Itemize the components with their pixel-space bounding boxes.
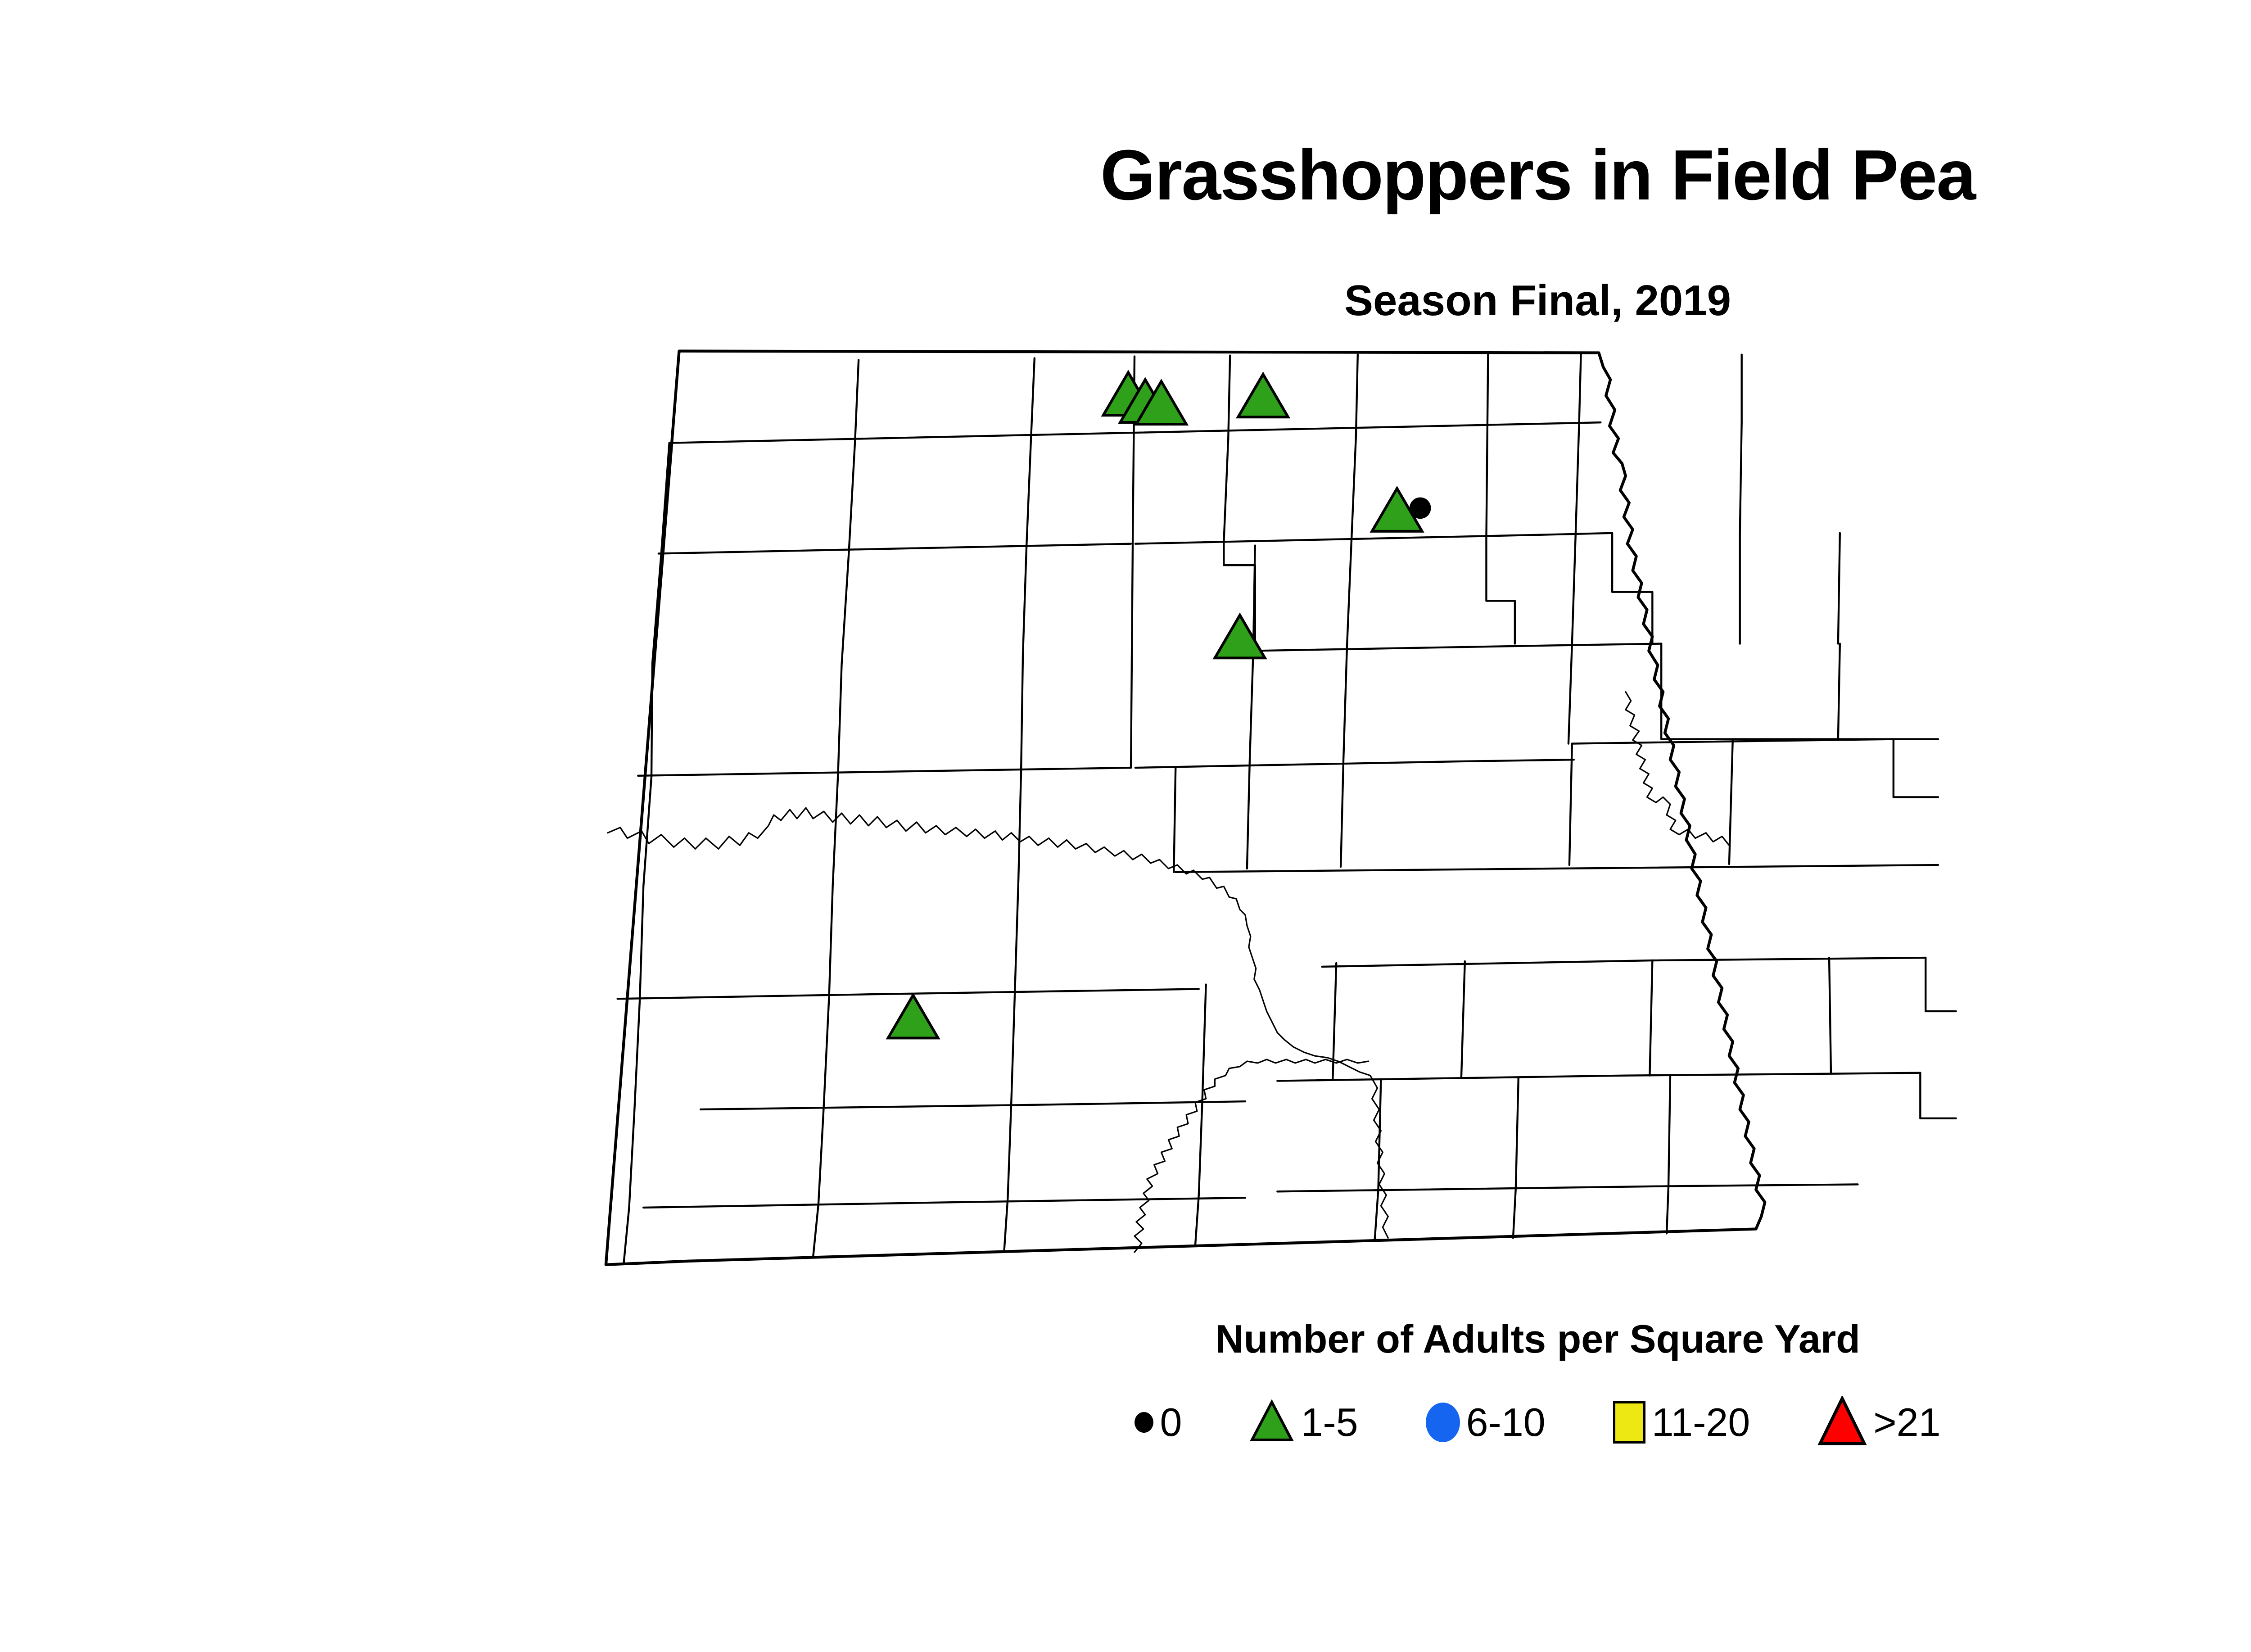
cty-vline-6a bbox=[629, 1109, 634, 1208]
cty-vline-7f bbox=[1513, 1188, 1516, 1238]
cty-vline-4b bbox=[829, 773, 838, 995]
tier-line-25 bbox=[1670, 1184, 1858, 1186]
tier-line-15 bbox=[1322, 960, 1653, 967]
cty-vline-2f bbox=[1576, 421, 1579, 535]
legend-item-11-20[interactable]: 11-20 bbox=[1613, 1401, 1750, 1444]
cty-step-e bbox=[1920, 1073, 1956, 1118]
cty-step-c bbox=[1894, 739, 1938, 797]
triangle-icon bbox=[1249, 1399, 1294, 1445]
tier-line-14 bbox=[868, 989, 1199, 994]
triangle-icon bbox=[1817, 1396, 1867, 1448]
tier-line-3 bbox=[1135, 535, 1540, 544]
tier-line-22 bbox=[643, 1202, 956, 1208]
cty-step-d bbox=[1926, 958, 1956, 1011]
cty-vline-7b bbox=[813, 1204, 818, 1258]
cty-vline-4c bbox=[1015, 770, 1021, 991]
circle-icon bbox=[1426, 1403, 1460, 1442]
cty-vline-3e bbox=[1347, 540, 1352, 646]
cty-vline-7d bbox=[1195, 1195, 1199, 1246]
legend-item-0[interactable]: 0 bbox=[1135, 1403, 1182, 1442]
cty-vline-4g bbox=[1568, 644, 1572, 744]
legend-item-6-10[interactable]: 6-10 bbox=[1426, 1403, 1546, 1442]
tier-line-10 bbox=[1135, 761, 1456, 768]
state-outline bbox=[606, 351, 1765, 1265]
cty-vline-4i bbox=[1569, 744, 1572, 865]
cty-vline-6f bbox=[1516, 1077, 1519, 1188]
cty-vline-n6 bbox=[1486, 354, 1488, 539]
cty-vline-n5 bbox=[1356, 355, 1358, 437]
cty-vline-3f bbox=[1572, 535, 1576, 644]
cty-vline-3c bbox=[1021, 548, 1026, 770]
tier-line-2 bbox=[659, 544, 1131, 554]
north-dakota-county-map bbox=[599, 333, 2206, 1301]
cty-vline-5f bbox=[1461, 961, 1465, 1077]
page-title: Grasshoppers in Field Pea bbox=[0, 140, 2251, 211]
lake-sakakawea bbox=[608, 808, 1370, 1075]
cty-vline-7a bbox=[624, 1208, 629, 1263]
cty-vline-6b bbox=[818, 1106, 824, 1204]
cty-vline-2d bbox=[1224, 439, 1228, 542]
cty-vline-5a bbox=[634, 999, 640, 1109]
map-subtitle: Season Final, 2019 bbox=[0, 279, 2251, 322]
tier-line-19 bbox=[1277, 1076, 1625, 1081]
cty-vline-5d bbox=[1202, 985, 1206, 1099]
tier-line-11 bbox=[1456, 760, 1574, 761]
tier-line-21 bbox=[1831, 1073, 1920, 1074]
legend-label-6-10: 6-10 bbox=[1466, 1403, 1546, 1442]
marker-1-5 bbox=[888, 995, 938, 1038]
cty-step-ne2 bbox=[1740, 422, 1742, 534]
legend-label-0: 0 bbox=[1160, 1403, 1182, 1442]
legend-label-gt21: >21 bbox=[1873, 1403, 1940, 1442]
legend-label-11-20: 11-20 bbox=[1652, 1403, 1750, 1442]
cty-step-ne4 bbox=[1838, 533, 1840, 644]
cty-vline-2c bbox=[1026, 440, 1031, 548]
legend-title: Number of Adults per Square Yard bbox=[0, 1319, 2251, 1359]
cty-vline-n2 bbox=[1031, 358, 1035, 440]
tier-line-13 bbox=[618, 994, 868, 999]
cty-step-b bbox=[1661, 644, 1894, 739]
cty-vline-n7 bbox=[1579, 353, 1581, 422]
cty-vline-7g bbox=[1667, 1186, 1668, 1233]
tier-line-6 bbox=[1253, 646, 1550, 651]
cty-vline-4e bbox=[1247, 651, 1253, 869]
cty-vline-2e bbox=[1352, 437, 1356, 540]
tier-line-24 bbox=[1277, 1186, 1670, 1191]
cty-vline-5b bbox=[824, 995, 829, 1106]
heart-river bbox=[1135, 1059, 1369, 1252]
cty-step-rolette bbox=[1486, 539, 1514, 644]
dot-icon bbox=[1135, 1412, 1153, 1433]
county-boundaries bbox=[606, 351, 1956, 1265]
cty-vline-5c bbox=[1011, 991, 1015, 1102]
tier-line-12 bbox=[1175, 865, 1938, 872]
cty-vline-5g bbox=[1650, 960, 1652, 1076]
tier-line-16 bbox=[1652, 958, 1926, 960]
data-markers bbox=[841, 372, 1431, 1301]
cty-vline-3b bbox=[838, 553, 849, 773]
cty-vline-6d bbox=[1199, 1099, 1202, 1195]
cty-vline-4f bbox=[1341, 646, 1347, 867]
cty-vline-n1 bbox=[855, 360, 859, 441]
cty-vline-6g bbox=[1668, 1076, 1670, 1186]
cty-vline-n4 bbox=[1228, 356, 1230, 439]
cty-step-ne5 bbox=[1838, 644, 1840, 739]
cty-vline-5h bbox=[1829, 958, 1831, 1074]
tier-line-17 bbox=[701, 1105, 1027, 1109]
legend-item-gt21[interactable]: >21 bbox=[1817, 1396, 1940, 1448]
cty-vline-7e bbox=[1375, 1190, 1379, 1240]
tier-line-5 bbox=[638, 768, 1131, 776]
legend: 0 1-5 6-10 11-20 >21 bbox=[0, 1396, 2251, 1448]
legend-label-1-5: 1-5 bbox=[1301, 1403, 1358, 1442]
cty-vline-6c bbox=[1008, 1102, 1011, 1199]
tier-line-18 bbox=[1027, 1101, 1245, 1105]
cty-vline-7c bbox=[1004, 1199, 1008, 1251]
tier-line-7 bbox=[1550, 644, 1661, 646]
cty-vline-4d bbox=[1174, 768, 1175, 872]
tier-line-20 bbox=[1626, 1074, 1831, 1076]
map-figure: Grasshoppers in Field Pea Season Final, … bbox=[0, 0, 2251, 1652]
tier-line-23 bbox=[956, 1198, 1245, 1202]
cty-vline-2b bbox=[849, 441, 855, 554]
marker-1-5 bbox=[1215, 615, 1265, 658]
square-icon bbox=[1613, 1401, 1645, 1444]
legend-item-1-5[interactable]: 1-5 bbox=[1249, 1399, 1358, 1445]
marker-1-5 bbox=[1238, 374, 1288, 417]
